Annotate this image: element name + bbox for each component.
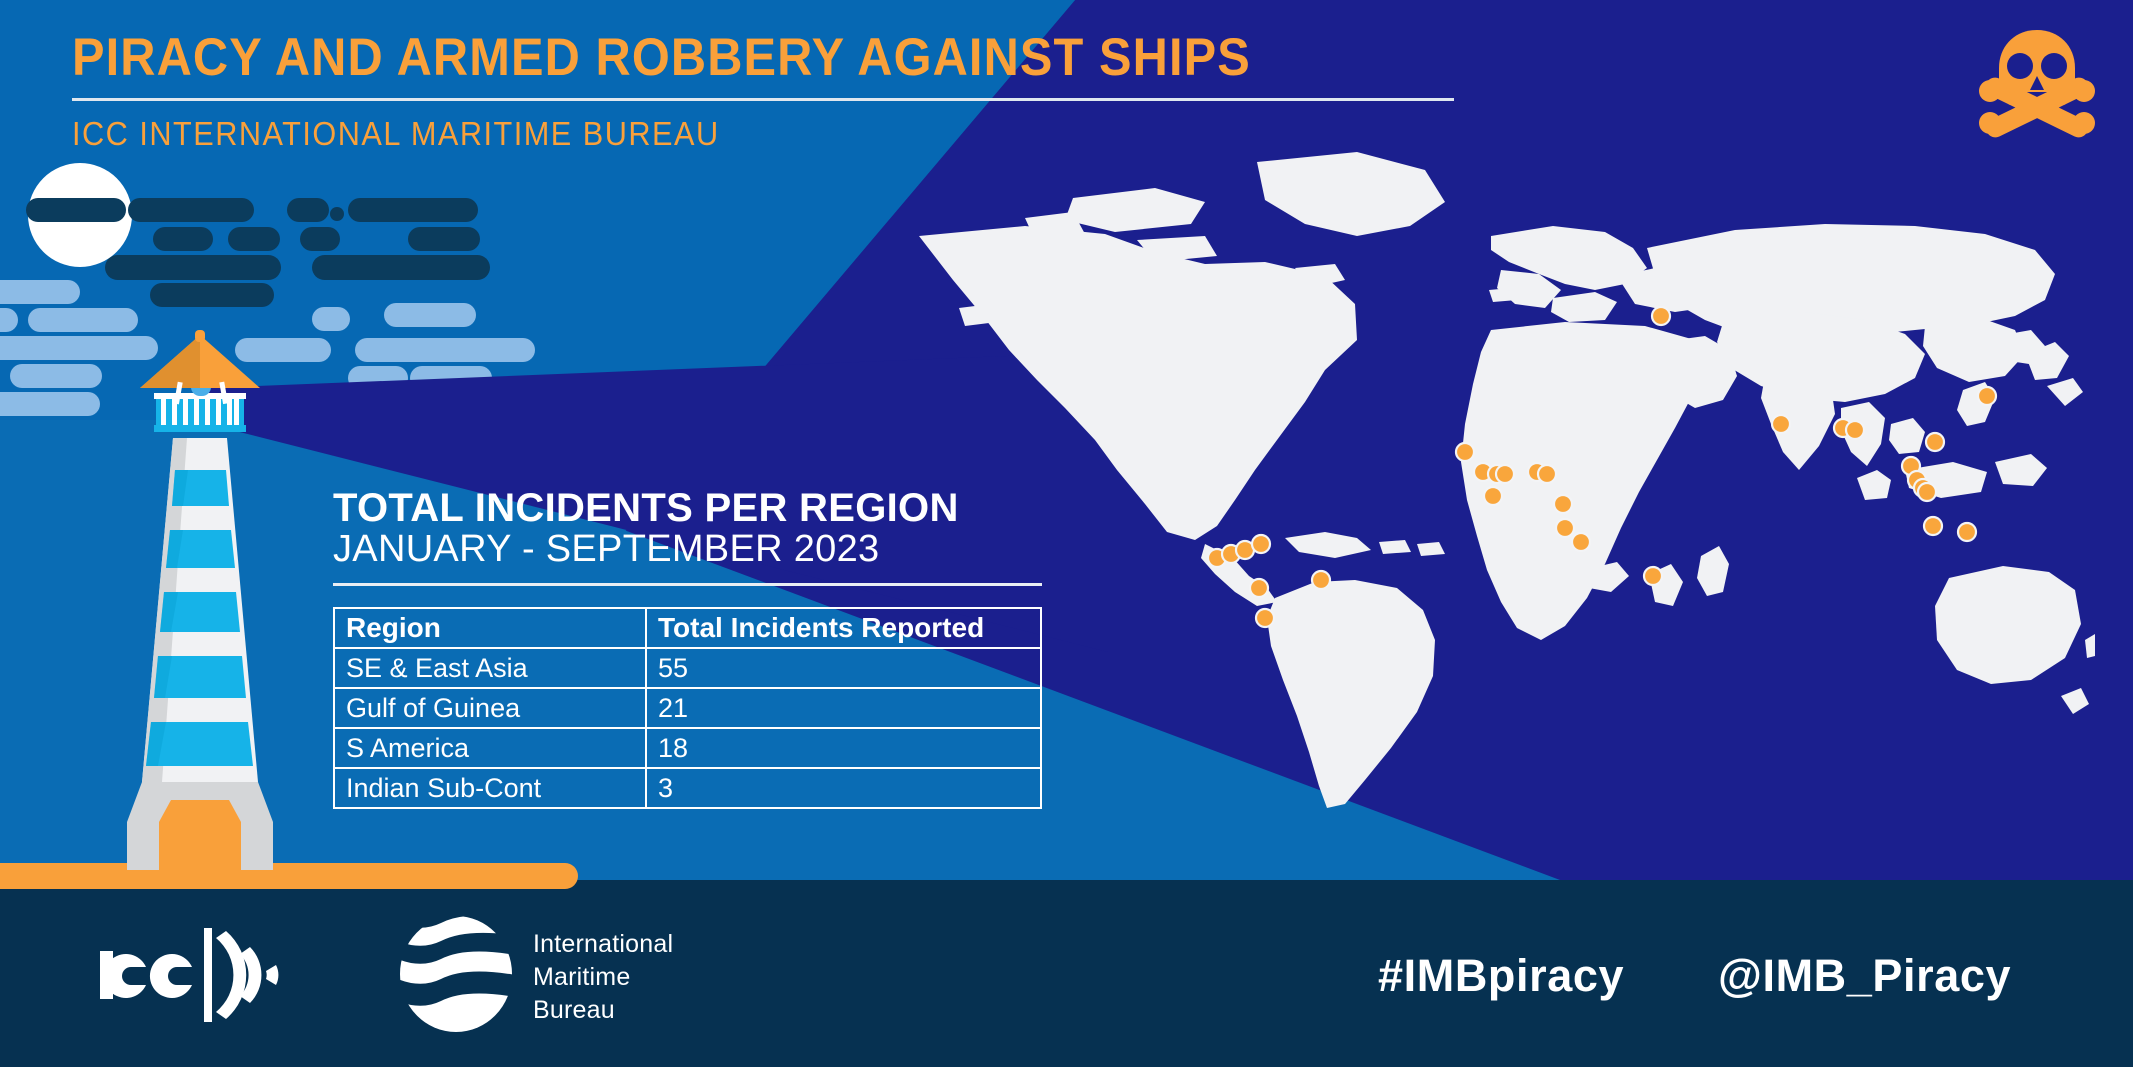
page-title: PIRACY AND ARMED ROBBERY AGAINST SHIPS: [72, 30, 1360, 86]
table-row: Indian Sub-Cont 3: [334, 768, 1041, 808]
cloud-bar: [408, 227, 480, 251]
lighthouse-illustration: [55, 330, 345, 870]
cell-region: Gulf of Guinea: [334, 688, 646, 728]
imb-text-line3: Bureau: [533, 994, 673, 1027]
column-header-incidents: Total Incidents Reported: [646, 608, 1041, 648]
header: PIRACY AND ARMED ROBBERY AGAINST SHIPS I…: [72, 30, 1472, 153]
skull-and-crossbones-icon: [1977, 22, 2097, 142]
cloud-bar: [312, 255, 490, 280]
cell-incidents: 18: [646, 728, 1041, 768]
infographic-poster: PIRACY AND ARMED ROBBERY AGAINST SHIPS I…: [0, 0, 2133, 1067]
column-header-region: Region: [334, 608, 646, 648]
cloud-bar: [355, 338, 535, 362]
imb-logo: [396, 915, 516, 1033]
table-row: SE & East Asia 55: [334, 648, 1041, 688]
cloud-bar: [384, 303, 476, 327]
cloud-bar: [300, 227, 340, 251]
cell-incidents: 3: [646, 768, 1041, 808]
cloud-bar: [150, 283, 274, 307]
cell-incidents: 55: [646, 648, 1041, 688]
cloud-bar: [26, 198, 126, 222]
cell-region: SE & East Asia: [334, 648, 646, 688]
imb-logo-text: International Maritime Bureau: [533, 928, 673, 1027]
cloud-bar: [153, 227, 213, 251]
cell-region: S America: [334, 728, 646, 768]
cell-region: Indian Sub-Cont: [334, 768, 646, 808]
table-header-row: Region Total Incidents Reported: [334, 608, 1041, 648]
imb-text-line1: International: [533, 928, 673, 961]
cloud-bar: [0, 308, 18, 332]
cloud-bar: [228, 227, 280, 251]
cloud-bar: [312, 307, 350, 331]
panel-heading: TOTAL INCIDENTS PER REGION: [333, 487, 1053, 529]
footer: International Maritime Bureau #IMBpiracy…: [0, 880, 2133, 1067]
cloud-bar: [105, 255, 281, 280]
title-divider: [72, 98, 1454, 101]
cloud-bar: [348, 198, 478, 222]
panel-period: JANUARY - SEPTEMBER 2023: [333, 529, 1053, 571]
cloud-bar: [130, 198, 252, 222]
incidents-table: Region Total Incidents Reported SE & Eas…: [333, 607, 1042, 809]
table-row: Gulf of Guinea 21: [334, 688, 1041, 728]
cloud-dot: [330, 207, 344, 221]
hashtag-label: #IMBpiracy: [1378, 950, 1624, 1002]
social-handle-label: @IMB_Piracy: [1718, 950, 2011, 1002]
icc-logo: [100, 925, 300, 1025]
panel-divider: [333, 583, 1042, 586]
cell-incidents: 21: [646, 688, 1041, 728]
imb-text-line2: Maritime: [533, 961, 673, 994]
table-row: S America 18: [334, 728, 1041, 768]
cloud-bar: [28, 308, 138, 332]
cloud-bar: [0, 280, 80, 304]
page-subtitle: ICC INTERNATIONAL MARITIME BUREAU: [72, 115, 1374, 153]
world-incident-map: [905, 140, 2095, 810]
cloud-bar: [287, 198, 329, 222]
incidents-panel: TOTAL INCIDENTS PER REGION JANUARY - SEP…: [333, 487, 1053, 809]
